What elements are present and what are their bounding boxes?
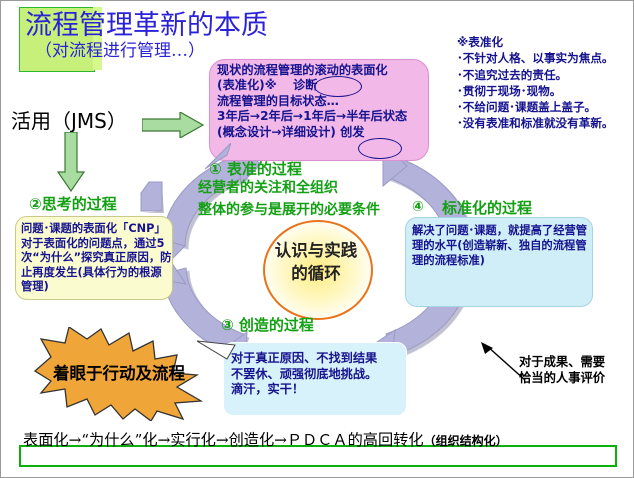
- slide-canvas: 流程管理革新的本质 （对流程进行管理…） 活用（JMS）: [0, 0, 634, 478]
- step1-body: 经营者的关注和全组织 整体的参与是展开的必要条件: [198, 177, 438, 221]
- step3-body: 对于真正原因、不找到结果 不罢休、顽强彻底地挑战。 滴汗，实干！: [231, 351, 409, 398]
- evaluation-note: 对于成果、需要 恰当的人事评价: [519, 354, 634, 386]
- create-ellipse-icon: [358, 138, 402, 159]
- diagnose-ellipse-icon: [314, 76, 362, 97]
- pink-callout-text: 现状的流程管理的滚动的表面化 (表准化)※ 诊断 流程管理的目标状态… 3年后→…: [217, 63, 429, 140]
- standardization-note-list: ※表准化 ･不针对人格、以事实为焦点。 ･不追究过去的责任。 ･贯彻于现场･现物…: [457, 34, 634, 132]
- step3-heading: ③ 创造的过程: [221, 314, 314, 335]
- step2-heading: ②思考的过程: [29, 193, 117, 214]
- step2-body: 问题･课题的表面化「CNP」 对于表面化的问题点，通过5次“为什么”探究真正原因…: [21, 222, 173, 295]
- bottom-summary-text: 表面化→“为什么”化→实行化→创造化→ＰＤＣＡ的高回转化（组织结构化）: [23, 428, 629, 450]
- step4-body: 解决了问题･课题，就提高了经营管理的水平(创造崭新、独自的流程管理的流程标准): [412, 223, 592, 268]
- center-cycle-label: 认识与实践 的循环: [259, 239, 373, 285]
- step1-heading: ① 表准的过程: [209, 158, 302, 179]
- step4-heading: 标准化的过程: [442, 197, 532, 218]
- jms-label: 活用（JMS）: [11, 105, 127, 134]
- arrow-down-icon: [57, 132, 85, 192]
- bottom-summary-suffix: （组织结构化）: [424, 434, 508, 448]
- pointer-arrow-icon: [135, 181, 167, 217]
- bottom-summary-main: 表面化→“为什么”化→实行化→创造化→ＰＤＣＡ的高回转化: [23, 431, 424, 449]
- step4-number: ④: [412, 199, 424, 215]
- page-title: 流程管理革新的本质: [25, 11, 355, 41]
- star-banner-label: 着眼于行动及流程: [31, 360, 207, 384]
- arrow-right-icon: [142, 112, 204, 138]
